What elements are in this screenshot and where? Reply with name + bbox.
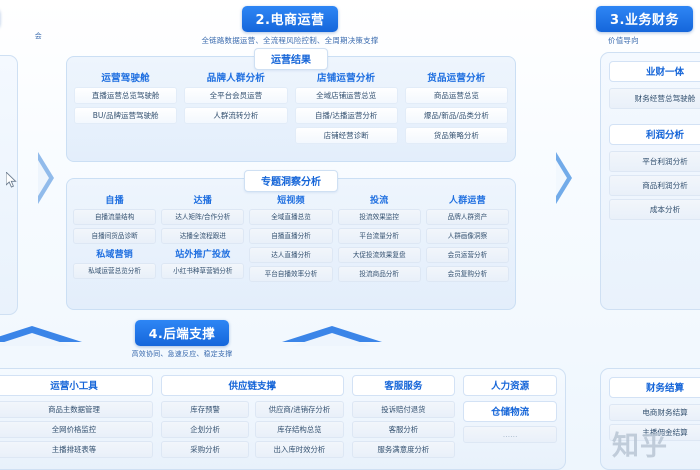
backend-cell-ellipsis: …… (463, 426, 557, 443)
right-section-panel: 业财一体 财务经营总驾驶舱 利润分析 平台利润分析 商品利润分析 成本分析 (600, 52, 700, 310)
right-cell[interactable]: 电商财务结算 (609, 404, 700, 421)
right-block-title: 利润分析 (609, 124, 700, 145)
topic-cell[interactable]: 品牌人群资产 (426, 209, 509, 225)
ops-cell[interactable]: BU/品牌运营驾驶舱 (74, 107, 177, 124)
column-title: 自播 (73, 193, 156, 206)
column-title: 运营驾驶舱 (74, 70, 177, 84)
backend-cell[interactable]: 商品主数据管理 (0, 401, 153, 418)
topic-cell[interactable]: 小红书种草营销分析 (161, 263, 244, 279)
backend-cell[interactable]: 投诉赔付退货 (352, 401, 456, 418)
backend-cell[interactable]: 库存预警 (161, 401, 249, 418)
ops-cell[interactable]: 直播运营总览驾驶舱 (74, 87, 177, 104)
topic-column-renqun: 人群运营 品牌人群资产 人群画像洞察 会员运营分析 会员复购分析 (426, 192, 509, 285)
right-cell[interactable]: 商品利润分析 (609, 175, 700, 196)
backend-cell[interactable]: 主播排班表等 (0, 441, 153, 458)
backend-cell[interactable]: 出入库时效分析 (255, 441, 343, 458)
center-section-slogan: 全链路数据运营、全流程风险控制、全周期决策支撑 (0, 35, 580, 46)
column-subtitle: 私域营销 (73, 247, 156, 260)
ops-cell[interactable]: 货品策略分析 (405, 127, 508, 144)
chevron-right-icon-left-inner (38, 160, 49, 196)
right-cell[interactable]: 成本分析 (609, 199, 700, 220)
backend-cell[interactable]: 全网价格监控 (0, 421, 153, 438)
topic-column-touliu: 投流 投流效果监控 平台流量分析 大促投流效果复盘 投流商品分析 (338, 192, 421, 285)
right-cell[interactable]: 财务经营总驾驶舱 (609, 88, 700, 109)
column-title: 投流 (338, 193, 421, 206)
column-title: 品牌人群分析 (184, 70, 287, 84)
backend-cell[interactable]: 企划分析 (161, 421, 249, 438)
topic-insight-header: 专题洞察分析 (244, 170, 338, 192)
backend-support-panel: 运营小工具 供应链支撑 客服服务 人力资源 商品主数据管理 全网价格监控 主播排… (0, 368, 566, 470)
chevron-right-icon-right-inner (556, 160, 567, 196)
backend-cell[interactable]: 供应商/进销存分析 (255, 401, 343, 418)
column-title: 达播 (161, 193, 244, 206)
topic-cell[interactable]: 私域运营总览分析 (73, 263, 156, 279)
topic-cell[interactable]: 投流商品分析 (338, 266, 421, 282)
chevron-up-icon-left-inner (0, 333, 72, 346)
center-section-header: 2.电商运营 全链路数据运营、全流程风险控制、全周期决策支撑 (0, 6, 580, 46)
backend-group-title: 运营小工具 (0, 375, 153, 396)
chevron-up-icon-right-inner (292, 333, 372, 346)
ops-result-column: 店铺运营分析 全域店铺运营总览 自播/达播运营分析 店铺经营诊断 (295, 70, 398, 147)
topic-cell[interactable]: 人群画像洞察 (426, 228, 509, 244)
right-cell[interactable]: 平台利润分析 (609, 151, 700, 172)
ops-cell[interactable]: 爆品/新品/品类分析 (405, 107, 508, 124)
backend-cell[interactable]: 库存结构总览 (255, 421, 343, 438)
ops-cell[interactable]: 商品运营总览 (405, 87, 508, 104)
topic-column-duanshipin: 短视频 全域直播总览 自播直播分析 达人直播分析 平台自播效率分析 (249, 192, 332, 285)
topic-insight-section: 专题洞察分析 自播 自播流量结构 自播间货品诊断 私域营销 私域运营总览分析 达… (66, 178, 516, 310)
topic-cell[interactable]: 全域直播总览 (249, 209, 332, 225)
topic-cell[interactable]: 自播直播分析 (249, 228, 332, 244)
right-section-slogan: 价值导向 (596, 35, 700, 46)
topic-cell[interactable]: 平台流量分析 (338, 228, 421, 244)
ops-cell[interactable]: 店铺经营诊断 (295, 127, 398, 144)
column-title: 货品运营分析 (405, 70, 508, 84)
ops-cell[interactable]: 自播/达播运营分析 (295, 107, 398, 124)
backend-cell[interactable]: 客服分析 (352, 421, 456, 438)
backend-section-header: 4.后端支撑 高效协同、急速反应、稳定支撑 (72, 320, 292, 359)
backend-section-title: 4.后端支撑 (135, 320, 229, 346)
center-section-title: 2.电商运营 (242, 6, 339, 32)
topic-cell[interactable]: 达人矩阵/合作分析 (161, 209, 244, 225)
backend-section-slogan: 高效协同、急速反应、稳定支撑 (72, 349, 292, 359)
column-subtitle: 站外推广投放 (161, 247, 244, 260)
backend-cell[interactable]: 服务满意度分析 (352, 441, 456, 458)
topic-cell[interactable]: 达人直播分析 (249, 247, 332, 263)
topic-cell[interactable]: 达播全流程跟进 (161, 228, 244, 244)
topic-cell[interactable]: 平台自播效率分析 (249, 266, 332, 282)
column-title: 人群运营 (426, 193, 509, 206)
ops-result-column: 运营驾驶舱 直播运营总览驾驶舱 BU/品牌运营驾驶舱 (74, 70, 177, 147)
right-section-header: 3.业务财务 价值导向 (596, 6, 700, 46)
zhihu-watermark: 知乎 (612, 424, 668, 463)
column-title: 短视频 (249, 193, 332, 206)
topic-cell[interactable]: 会员运营分析 (426, 247, 509, 263)
backend-group-title: 人力资源 (463, 375, 557, 396)
mouse-cursor-icon (6, 172, 18, 190)
topic-column-zibo: 自播 自播流量结构 自播间货品诊断 私域营销 私域运营总览分析 (73, 192, 156, 285)
topic-column-dabo: 达播 达人矩阵/合作分析 达播全流程跟进 站外推广投放 小红书种草营销分析 (161, 192, 244, 285)
ops-cell[interactable]: 人群流转分析 (184, 107, 287, 124)
backend-group-title: 供应链支撑 (161, 375, 344, 396)
infographic-canvas: 1 会 2.电商运营 全链路数据运营、全流程风险控制、全周期决策支撑 运营结果 … (0, 0, 700, 470)
backend-group-title: 客服服务 (352, 375, 456, 396)
ops-result-column: 货品运营分析 商品运营总览 爆品/新品/品类分析 货品策略分析 (405, 70, 508, 147)
ops-cell[interactable]: 全平台会员运营 (184, 87, 287, 104)
ops-result-header: 运营结果 (254, 48, 328, 70)
backend-cell[interactable]: 采购分析 (161, 441, 249, 458)
topic-cell[interactable]: 自播间货品诊断 (73, 228, 156, 244)
topic-cell[interactable]: 投流效果监控 (338, 209, 421, 225)
ops-result-section: 运营结果 运营驾驶舱 直播运营总览驾驶舱 BU/品牌运营驾驶舱 品牌人群分析 全… (66, 56, 516, 162)
right-section-title: 3.业务财务 (596, 6, 693, 32)
topic-cell[interactable]: 自播流量结构 (73, 209, 156, 225)
ops-cell[interactable]: 全域店铺运营总览 (295, 87, 398, 104)
column-title: 店铺运营分析 (295, 70, 398, 84)
right-block-title: 财务结算 (609, 377, 700, 398)
ops-result-column: 品牌人群分析 全平台会员运营 人群流转分析 (184, 70, 287, 147)
topic-cell[interactable]: 会员复购分析 (426, 266, 509, 282)
backend-subgroup-title: 仓储物流 (463, 401, 557, 422)
right-block-title: 业财一体 (609, 61, 700, 82)
topic-cell[interactable]: 大促投流效果复盘 (338, 247, 421, 263)
